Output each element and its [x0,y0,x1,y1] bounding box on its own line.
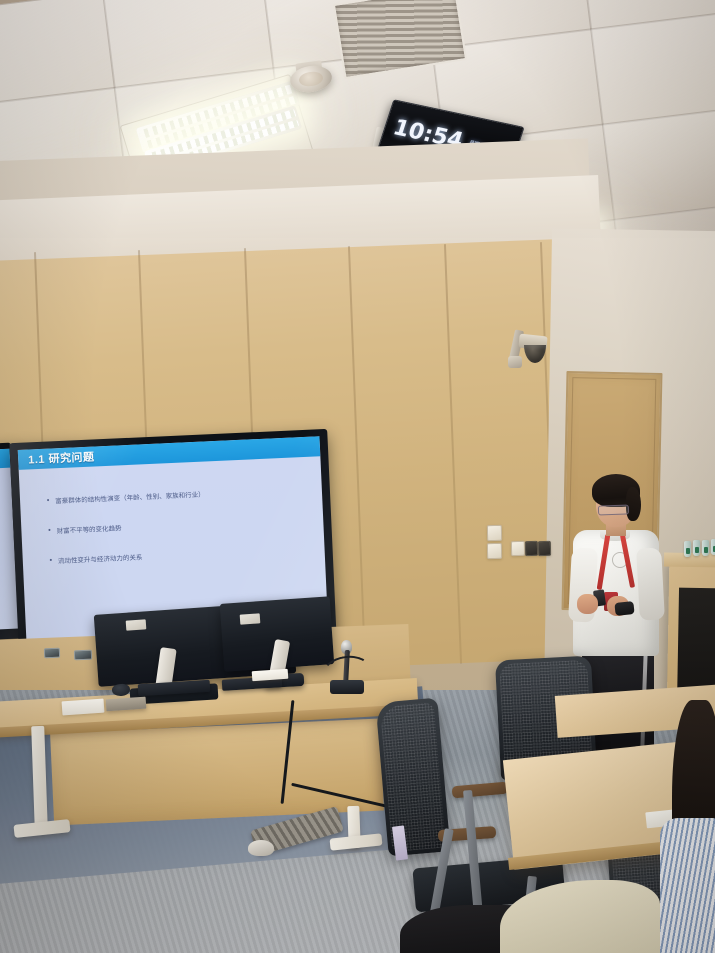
wall-outlet-1[interactable] [511,541,525,556]
monitor-left-label [126,619,147,630]
light-switch-lower[interactable] [487,543,502,559]
water-bottle-3[interactable] [702,540,709,556]
camera-wall-plate [508,356,522,368]
slide-title: 1.1 研究问题 [28,448,95,467]
slide-bullet-1: • 富豪群体的结构性演变（年龄、性别、家族和行业） [46,487,308,507]
water-bottle-1[interactable] [684,541,691,557]
slide-bullet-list: • 富豪群体的结构性演变（年龄、性别、家族和行业） • 财富不平等的变化趋势 •… [46,487,312,588]
room-photo-scene: 10:54 星期六 2025年4月17日 1.1 研 [0,0,715,953]
bullet-marker-icon: • [47,527,51,534]
water-bottle-2[interactable] [693,540,700,556]
slide-bullet-2: • 财富不平等的变化趋势 [47,517,309,537]
wristwatch-icon [614,601,634,616]
av-wall-port-2[interactable] [74,650,92,661]
slide-bullet-text-2: 财富不平等的变化趋势 [56,525,121,536]
wall-port-3[interactable] [538,541,551,556]
slide-header-band-secondary [0,449,10,471]
light-switch-upper[interactable] [487,525,502,541]
cable-chain-foot [248,840,274,856]
bullet-marker-icon: • [49,557,53,564]
bullet-marker-icon: • [46,498,50,505]
presenter-hair-side [626,487,641,521]
eyeglasses-icon [598,504,629,515]
presenter-arm-right [636,547,665,620]
slide-bullet-3: • 流动性变升与经济动力的关系 [49,546,311,566]
seated-person-striped-shirt [660,818,715,953]
slide-bullet-text-1: 富豪群体的结构性演变（年龄、性别、家族和行业） [55,492,205,507]
water-bottle-4[interactable] [711,539,715,555]
chair-mesh-texture [380,702,447,852]
wall-port-2[interactable] [525,541,538,556]
slide-bullet-text-3: 流动性变升与经济动力的关系 [58,554,143,566]
av-wall-port-1[interactable] [44,648,60,659]
desk-paper-sheet [62,699,105,716]
monitor-right-label [240,613,261,624]
presenter-hand-left [577,594,598,614]
